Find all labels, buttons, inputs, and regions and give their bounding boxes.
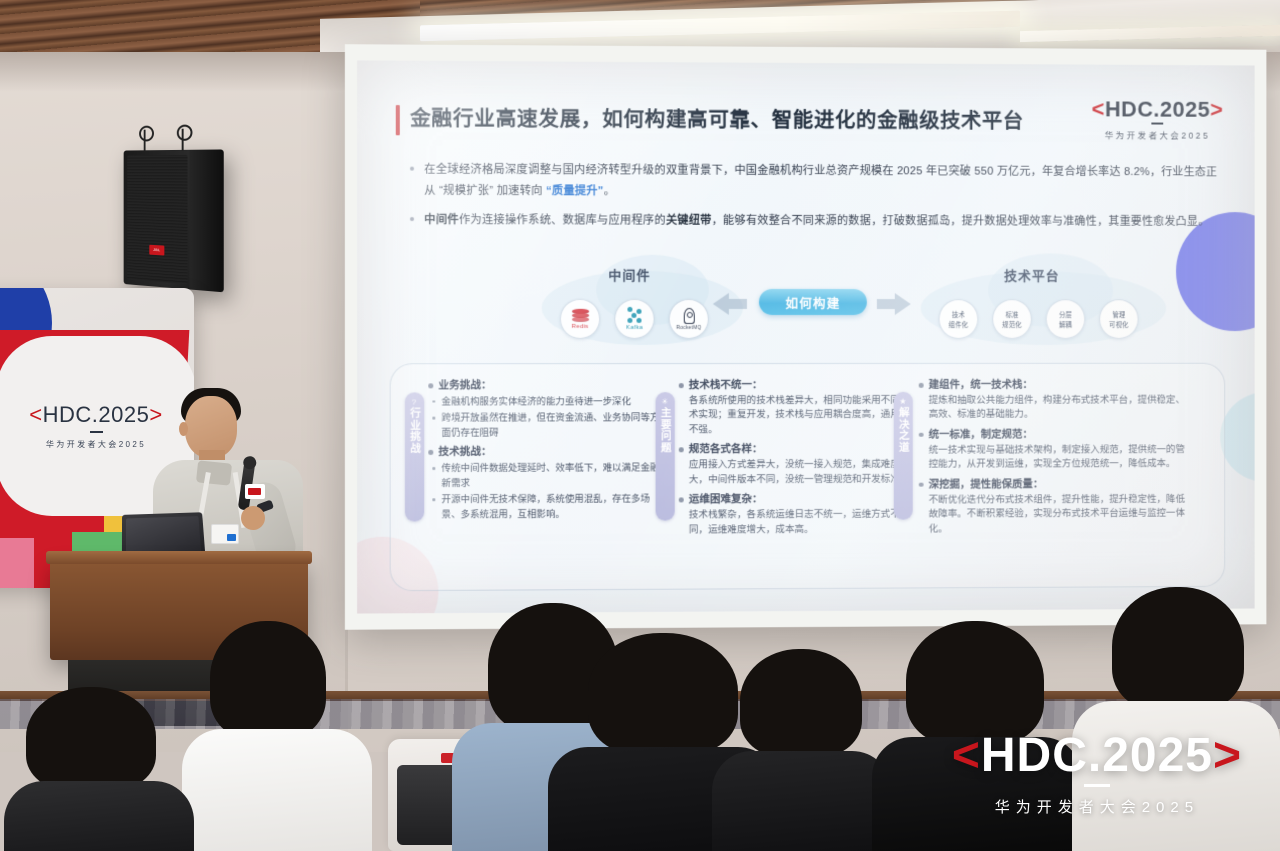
chip-line1: 标准 <box>1005 310 1018 319</box>
idea-icon: ☀ <box>661 398 669 406</box>
point-heading: 业务挑战： <box>427 378 667 394</box>
mic-flag-logo <box>245 484 265 499</box>
chip-tech-componentization: 技术 组件化 <box>939 299 979 339</box>
chip-layered-decoupling: 分层 解耦 <box>1046 299 1086 339</box>
tab-industry-challenges: ? 行业挑战 <box>405 392 424 521</box>
logo-text: HDC.2025 <box>1105 96 1210 121</box>
point-body: 各系统所使用的技术栈差异大，相同功能采用不同技术实现；重复开发，技术栈与应用耦合… <box>678 394 916 438</box>
laptop-screen <box>126 516 201 555</box>
point-heading: 规范各式各样： <box>678 442 916 458</box>
slide-header: 金融行业高速发展，如何构建高可靠、智能进化的金融级技术平台 <HDC.2025>… <box>357 101 1255 151</box>
chip-kafka: Kafka <box>614 299 654 339</box>
mic-flag-accent <box>248 488 261 495</box>
point-body: 应用接入方式差异大，没统一接入规范，集成难度大，中间件版本不同，没统一管理规范和… <box>678 458 916 488</box>
sub-item: 金融机构服务实体经济的能力亟待进一步深化 <box>427 394 667 409</box>
hdc-watermark: <HDC.2025> 华为开发者大会2025 <box>952 732 1242 817</box>
rocketmq-icon <box>683 307 694 323</box>
how-to-build-pill: 如何构建 <box>759 289 867 315</box>
kafka-icon <box>626 307 642 323</box>
presenter-ear <box>179 422 188 436</box>
slide-diagram: 中间件 Redis Kafka RocketMQ 如何构建 <box>357 262 1255 363</box>
point-heading: 技术挑战： <box>427 445 667 461</box>
chip-standardization: 标准 规范化 <box>992 299 1032 339</box>
point-operations: 运维困难复杂： 技术栈繁杂，各系统运维日志不统一，运维方式不同，运维难度增大，成… <box>678 492 916 538</box>
chip-kafka-label: Kafka <box>626 324 643 331</box>
tab-solutions: ★ 解决之道 <box>894 392 913 520</box>
point-deep-optimization: 深挖掘，提性能保质量： 不断优化迭代分布式技术组件，提升性能，提升稳定性，降低故… <box>918 477 1187 537</box>
point-business-challenge: 业务挑战： 金融机构服务实体经济的能力亟待进一步深化 跨境开放虽然在推进，但在资… <box>427 378 667 440</box>
column-main-issues: 技术栈不统一： 各系统所使用的技术栈差异大，相同功能采用不同技术实现；重复开发，… <box>678 378 916 543</box>
badge-accent <box>227 534 236 541</box>
tab-label: 解决之道 <box>897 407 910 453</box>
decor-circle-cyan <box>1220 392 1254 481</box>
point-tech-stack: 技术栈不统一： 各系统所使用的技术栈差异大，相同功能采用不同技术实现；重复开发，… <box>678 378 916 438</box>
chip-rocketmq: RocketMQ <box>669 299 709 339</box>
chip-line2: 组件化 <box>949 320 969 329</box>
speaker-side <box>190 149 224 292</box>
audience-head <box>740 649 862 757</box>
chip-line1: 管理 <box>1112 310 1125 319</box>
chip-redis: Redis <box>560 299 600 339</box>
bullet1-highlight: “质量提升” <box>546 185 604 197</box>
sub-item: 跨境开放虽然在推进，但在资金流通、业务协同等方面仍存在阻碍 <box>427 411 667 441</box>
jbl-speaker: JBL <box>124 149 224 292</box>
arrow-right-icon <box>895 293 911 315</box>
speaker-hook-right <box>182 129 184 151</box>
hdc-slide-logo-wordmark: <HDC.2025> <box>1092 98 1223 120</box>
watermark-close-bracket: > <box>1213 729 1242 782</box>
chip-management-visualization: 管理 可视化 <box>1099 299 1138 339</box>
slide-content-card: ? 行业挑战 业务挑战： 金融机构服务实体经济的能力亟待进一步深化 跨境开放虽然… <box>390 363 1226 591</box>
point-tech-challenge: 技术挑战： 传统中间件数据处理延时、效率低下，难以满足金融新需求 开源中间件无技… <box>427 445 667 522</box>
standee-wordmark: <HDC.2025> <box>29 402 162 428</box>
chip-line2: 可视化 <box>1109 320 1129 329</box>
audience-head <box>906 621 1044 745</box>
bullet2-mid: 作为连接操作系统、数据库与应用程序的 <box>459 215 666 228</box>
jbl-logo: JBL <box>149 245 164 256</box>
speaker-grille <box>127 155 187 284</box>
logo-close-bracket: > <box>1210 97 1223 122</box>
audience-shoulders <box>4 781 194 851</box>
bullet2-bold-start: 中间件 <box>424 214 459 226</box>
chip-line1: 分层 <box>1059 310 1072 319</box>
point-heading: 技术栈不统一： <box>678 378 916 394</box>
photo-scene: JBL 金融行业高速发展，如何构建高可靠、智能进化的金融级技术平台 <HDC.2… <box>0 0 1280 851</box>
chip-line2: 解耦 <box>1059 320 1072 329</box>
logo-underline <box>1152 123 1164 125</box>
audience-member <box>182 646 372 851</box>
point-heading: 深挖掘，提性能保质量： <box>918 477 1187 493</box>
tech-platform-label: 技术平台 <box>1004 265 1059 284</box>
standee-text: HDC.2025 <box>43 402 150 427</box>
question-icon: ? <box>412 398 418 406</box>
point-heading: 运维困难复杂： <box>678 492 916 509</box>
audience-head <box>210 621 326 739</box>
redis-icon <box>571 308 588 321</box>
standee-subtitle: 华为开发者大会2025 <box>46 439 146 450</box>
podium-top-edge <box>46 551 312 564</box>
watermark-wordmark: <HDC.2025> <box>952 732 1242 780</box>
audience-head <box>1112 587 1244 711</box>
sub-item: 开源中间件无技术保障，系统使用混乱，存在多场景、多系统混用，互相影响。 <box>427 492 667 522</box>
watermark-open-bracket: < <box>952 729 981 782</box>
bullet1-lead: 在全球经济格局深度调整与国内经济转型升级的双重背景下，中国金融机构行业总资产规模… <box>424 164 1217 197</box>
presenter-collar <box>196 460 232 485</box>
arrow-left-tail <box>729 299 747 309</box>
point-build-components: 建组件，统一技术栈： 提炼和抽取公共能力组件，构建分布式技术平台，提供稳定、高效… <box>918 378 1187 423</box>
speaker-hook-left <box>144 130 146 152</box>
point-unify-standards: 统一标准，制定规范： 统一技术实现与基础技术架构，制定接入规范，提供统一的管控能… <box>918 427 1187 472</box>
presenter-hand <box>241 506 265 530</box>
chip-redis-label: Redis <box>572 322 589 329</box>
hdc-slide-logo: <HDC.2025> 华为开发者大会2025 <box>1092 98 1223 141</box>
audience-head <box>26 687 156 791</box>
audience-shoulders <box>712 751 892 851</box>
chip-rocketmq-label: RocketMQ <box>676 324 701 330</box>
presenter-head <box>185 396 237 458</box>
point-body: 技术栈繁杂，各系统运维日志不统一，运维方式不同，运维难度增大，成本高。 <box>678 508 916 538</box>
sub-item: 传统中间件数据处理延时、效率低下，难以满足金融新需求 <box>427 461 667 491</box>
point-body: 不断优化迭代分布式技术组件，提升性能，提升稳定性，降低故障率。不断积累经验，实现… <box>918 492 1187 537</box>
standee-open-bracket: < <box>29 402 42 427</box>
projection-screen: 金融行业高速发展，如何构建高可靠、智能进化的金融级技术平台 <HDC.2025>… <box>345 44 1267 630</box>
arrow-right-tail <box>877 299 895 309</box>
standee-underline <box>90 431 103 433</box>
tab-label: 主要问题 <box>659 407 672 453</box>
column-solutions: 建组件，统一技术栈： 提炼和抽取公共能力组件，构建分布式技术平台，提供稳定、高效… <box>918 378 1187 542</box>
bullet1-tail: 。 <box>604 185 615 197</box>
title-accent-bar <box>396 105 400 135</box>
bullet2-tail: ，能够有效整合不同来源的数据，打破数据孤岛，提升数据处理效率与准确性，其重要性愈… <box>712 215 1210 228</box>
chip-line1: 技术 <box>952 310 965 319</box>
column-industry-challenges: 业务挑战： 金融机构服务实体经济的能力亟待进一步深化 跨境开放虽然在推进，但在资… <box>427 378 667 527</box>
bullet-text: 在全球经济格局深度调整与国内经济转型升级的双重背景下，中国金融机构行业总资产规模… <box>424 160 1225 204</box>
slide-bullet-list: 在全球经济格局深度调整与国内经济转型升级的双重背景下，中国金融机构行业总资产规模… <box>406 160 1225 242</box>
slide-canvas: 金融行业高速发展，如何构建高可靠、智能进化的金融级技术平台 <HDC.2025>… <box>357 60 1255 613</box>
arrow-left-icon <box>713 293 729 315</box>
audience-member <box>712 665 892 851</box>
audience-shoulders <box>182 729 372 851</box>
tab-label: 行业挑战 <box>408 408 421 454</box>
logo-open-bracket: < <box>1092 96 1105 121</box>
chip-line2: 规范化 <box>1002 320 1022 329</box>
point-specifications: 规范各式各样： 应用接入方式差异大，没统一接入规范，集成难度大，中间件版本不同，… <box>678 442 916 488</box>
watermark-subtitle: 华为开发者大会2025 <box>952 796 1242 817</box>
point-body: 提炼和抽取公共能力组件，构建分布式技术平台，提供稳定、高效、标准的基础能力。 <box>918 393 1187 422</box>
point-body: 统一技术实现与基础技术架构，制定接入规范，提供统一的管控能力，从开发到运维，实现… <box>918 443 1187 473</box>
watermark-text: HDC.2025 <box>981 729 1213 782</box>
tab-main-issues: ☀ 主要问题 <box>656 392 675 520</box>
bullet-text: 中间件作为连接操作系统、数据库与应用程序的关键纽带，能够有效整合不同来源的数据，… <box>424 210 1225 233</box>
point-heading: 统一标准，制定规范： <box>918 427 1187 443</box>
hdc-slide-logo-subtitle: 华为开发者大会2025 <box>1092 129 1223 141</box>
presenter-badge <box>211 524 239 544</box>
slide-title: 金融行业高速发展，如何构建高可靠、智能进化的金融级技术平台 <box>410 101 1024 134</box>
watermark-underline <box>1084 784 1110 787</box>
star-icon: ★ <box>899 398 907 406</box>
bullet-item: 中间件作为连接操作系统、数据库与应用程序的关键纽带，能够有效整合不同来源的数据，… <box>406 210 1225 233</box>
bullet-item: 在全球经济格局深度调整与国内经济转型升级的双重背景下，中国金融机构行业总资产规模… <box>406 160 1225 204</box>
point-heading: 建组件，统一技术栈： <box>918 378 1187 394</box>
audience-member <box>4 701 194 851</box>
middleware-label: 中间件 <box>608 265 650 284</box>
bullet2-bold-mid: 关键纽带 <box>666 215 712 227</box>
standee-shape-pink <box>0 538 34 588</box>
